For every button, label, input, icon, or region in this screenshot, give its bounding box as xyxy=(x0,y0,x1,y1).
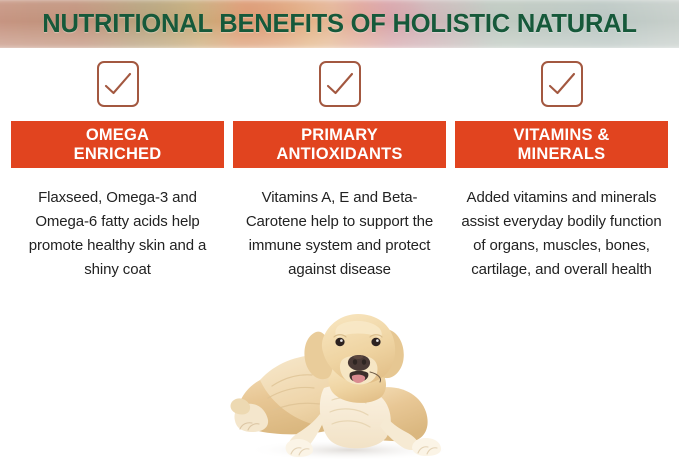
checkmark-icon-wrapper xyxy=(97,60,139,108)
benefit-title-line1: VITAMINS & xyxy=(513,126,609,145)
benefit-column-vitamins-minerals: VITAMINS & MINERALS Added vitamins and m… xyxy=(455,48,668,308)
checkmark-icon-wrapper xyxy=(319,60,361,108)
benefit-column-omega-enriched: OMEGA ENRICHED Flaxseed, Omega-3 and Ome… xyxy=(11,48,224,308)
benefit-columns: OMEGA ENRICHED Flaxseed, Omega-3 and Ome… xyxy=(0,48,679,308)
benefit-body-3: Added vitamins and minerals assist every… xyxy=(455,186,668,282)
benefit-column-primary-antioxidants: PRIMARY ANTIOXIDANTS Vitamins A, E and B… xyxy=(233,48,446,308)
checkmark-box-icon xyxy=(319,61,361,107)
benefit-title-line2: MINERALS xyxy=(513,145,609,164)
benefit-title-bar-1: OMEGA ENRICHED xyxy=(11,121,224,168)
benefit-title-bar-3: VITAMINS & MINERALS xyxy=(455,121,668,168)
nutritional-benefits-infographic: NUTRITIONAL BENEFITS OF HOLISTIC NATURAL… xyxy=(0,0,679,459)
header-banner: NUTRITIONAL BENEFITS OF HOLISTIC NATURAL xyxy=(0,0,679,48)
checkmark-icon-wrapper xyxy=(541,60,583,108)
page-title: NUTRITIONAL BENEFITS OF HOLISTIC NATURAL xyxy=(0,0,679,48)
benefit-body-2: Vitamins A, E and Beta-Carotene help to … xyxy=(233,186,446,282)
benefit-title-line1: PRIMARY xyxy=(276,126,402,145)
footer-image-area xyxy=(0,300,679,459)
checkmark-box-icon xyxy=(97,61,139,107)
benefit-body-1: Flaxseed, Omega-3 and Omega-6 fatty acid… xyxy=(11,186,224,282)
benefit-title-line2: ENRICHED xyxy=(74,145,162,164)
golden-retriever-photo xyxy=(228,302,468,459)
benefit-title-line1: OMEGA xyxy=(74,126,162,145)
checkmark-box-icon xyxy=(541,61,583,107)
benefit-title-bar-2: PRIMARY ANTIOXIDANTS xyxy=(233,121,446,168)
benefit-title-line2: ANTIOXIDANTS xyxy=(276,145,402,164)
